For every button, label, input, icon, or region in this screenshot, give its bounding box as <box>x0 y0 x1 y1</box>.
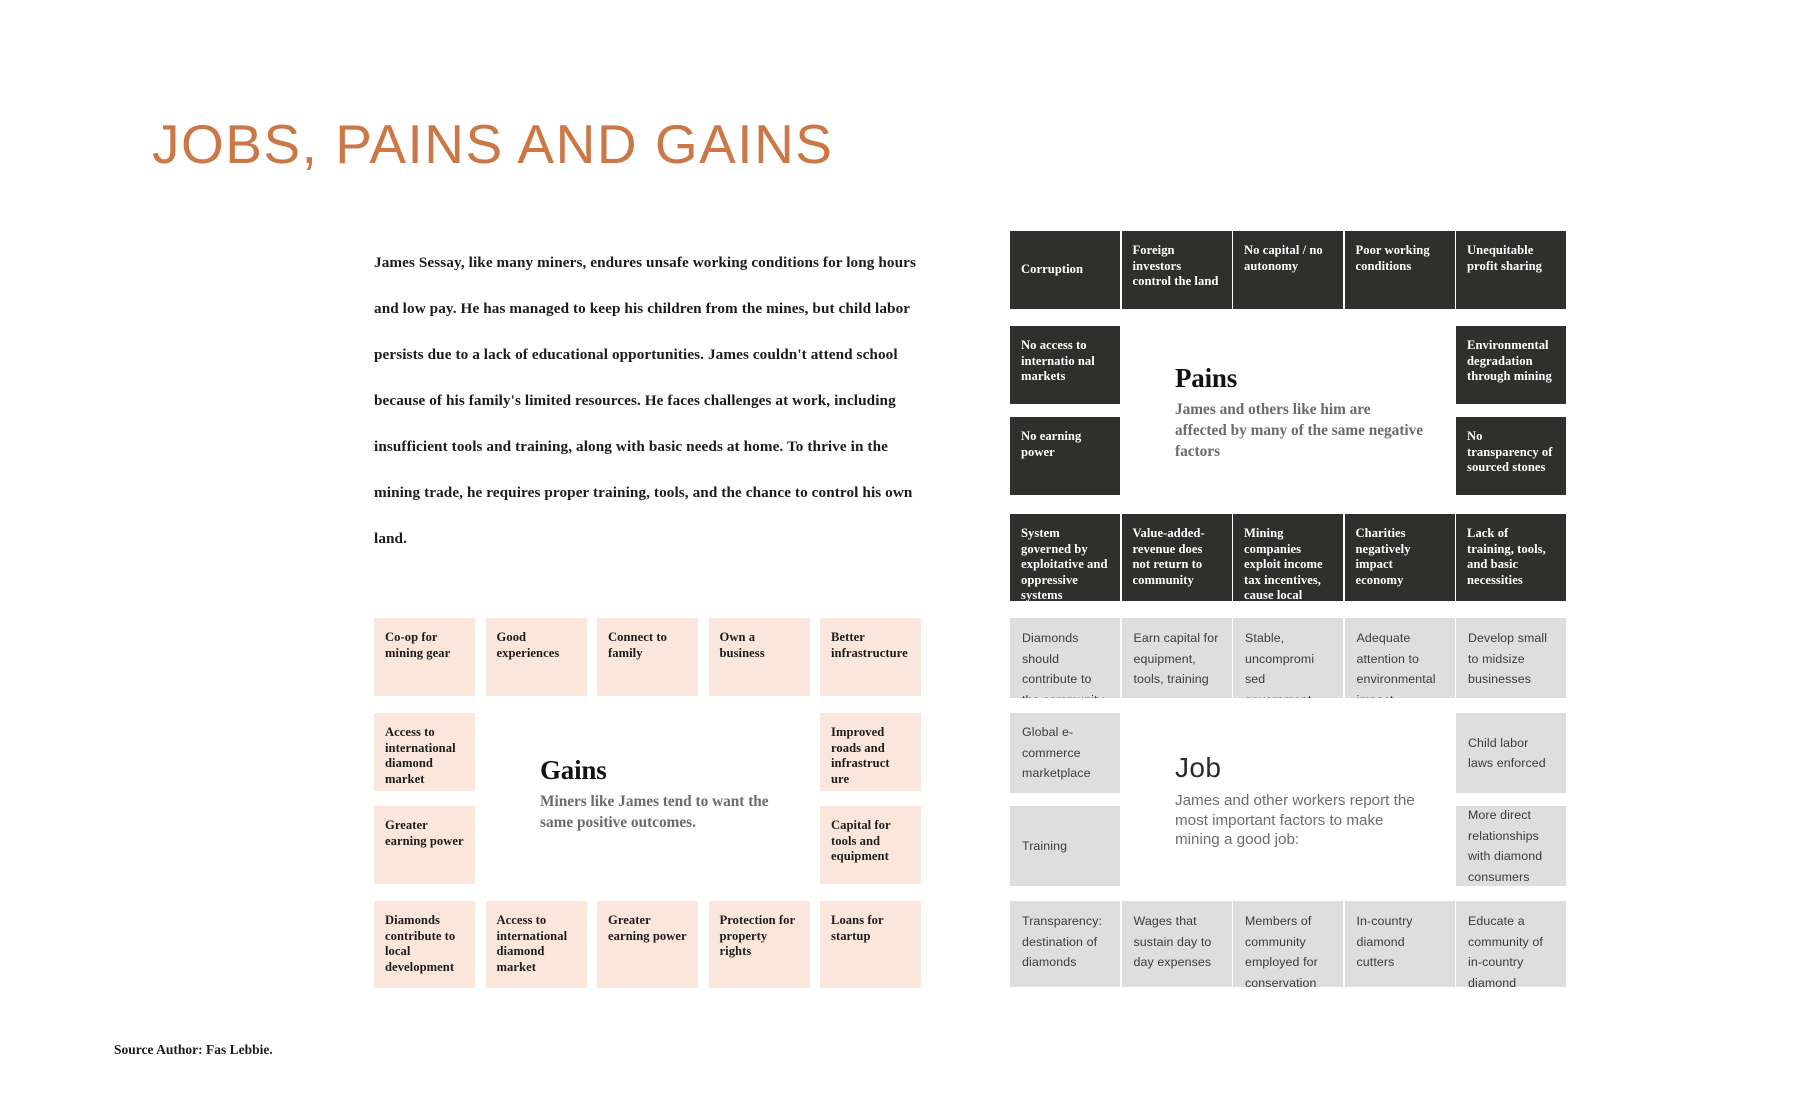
job-caption: Job James and other workers report the m… <box>1175 752 1425 850</box>
card-label: Adequate attention to environmental impa… <box>1345 628 1455 698</box>
card[interactable]: Diamonds should contribute to the commun… <box>1010 618 1120 698</box>
card-label: Diamonds should contribute to the commun… <box>1010 628 1120 698</box>
job-heading: Job <box>1175 752 1425 784</box>
card-label: Training <box>1010 836 1079 857</box>
card[interactable]: Stable, uncompromi sed government bureau… <box>1233 618 1343 698</box>
card-label: Earn capital for equipment, tools, train… <box>1122 628 1232 690</box>
card[interactable]: Child labor laws enforced <box>1456 713 1566 793</box>
card[interactable]: Adequate attention to environmental impa… <box>1345 618 1455 698</box>
job-grid: Diamonds should contribute to the commun… <box>0 0 1800 1098</box>
card-label: Transparency: destination of diamonds <box>1010 911 1120 973</box>
card[interactable]: Develop small to midsize businesses <box>1456 618 1566 698</box>
card-label: Stable, uncompromi sed government bureau… <box>1233 628 1343 698</box>
card-label: More direct relationships with diamond c… <box>1456 806 1566 886</box>
card[interactable]: Earn capital for equipment, tools, train… <box>1122 618 1232 698</box>
card-label: In-country diamond cutters <box>1345 911 1455 973</box>
card-label: Educate a community of in-country diamon… <box>1456 911 1566 987</box>
card-label: Child labor laws enforced <box>1456 733 1566 774</box>
card-label: Wages that sustain day to day expenses <box>1122 911 1232 973</box>
card-label: Develop small to midsize businesses <box>1456 628 1566 690</box>
card[interactable]: Wages that sustain day to day expenses <box>1122 901 1232 987</box>
card[interactable]: In-country diamond cutters <box>1345 901 1455 987</box>
card[interactable]: More direct relationships with diamond c… <box>1456 806 1566 886</box>
poster-canvas: JOBS, PAINS AND GAINS James Sessay, like… <box>0 0 1800 1098</box>
card[interactable]: Transparency: destination of diamonds <box>1010 901 1120 987</box>
job-subtext: James and other workers report the most … <box>1175 791 1425 850</box>
card[interactable]: Members of community employed for conser… <box>1233 901 1343 987</box>
card-label: Members of community employed for conser… <box>1233 911 1343 987</box>
card[interactable]: Global e-commerce marketplace <box>1010 713 1120 793</box>
card[interactable]: Training <box>1010 806 1120 886</box>
card-label: Global e-commerce marketplace <box>1010 722 1120 784</box>
card[interactable]: Educate a community of in-country diamon… <box>1456 901 1566 987</box>
